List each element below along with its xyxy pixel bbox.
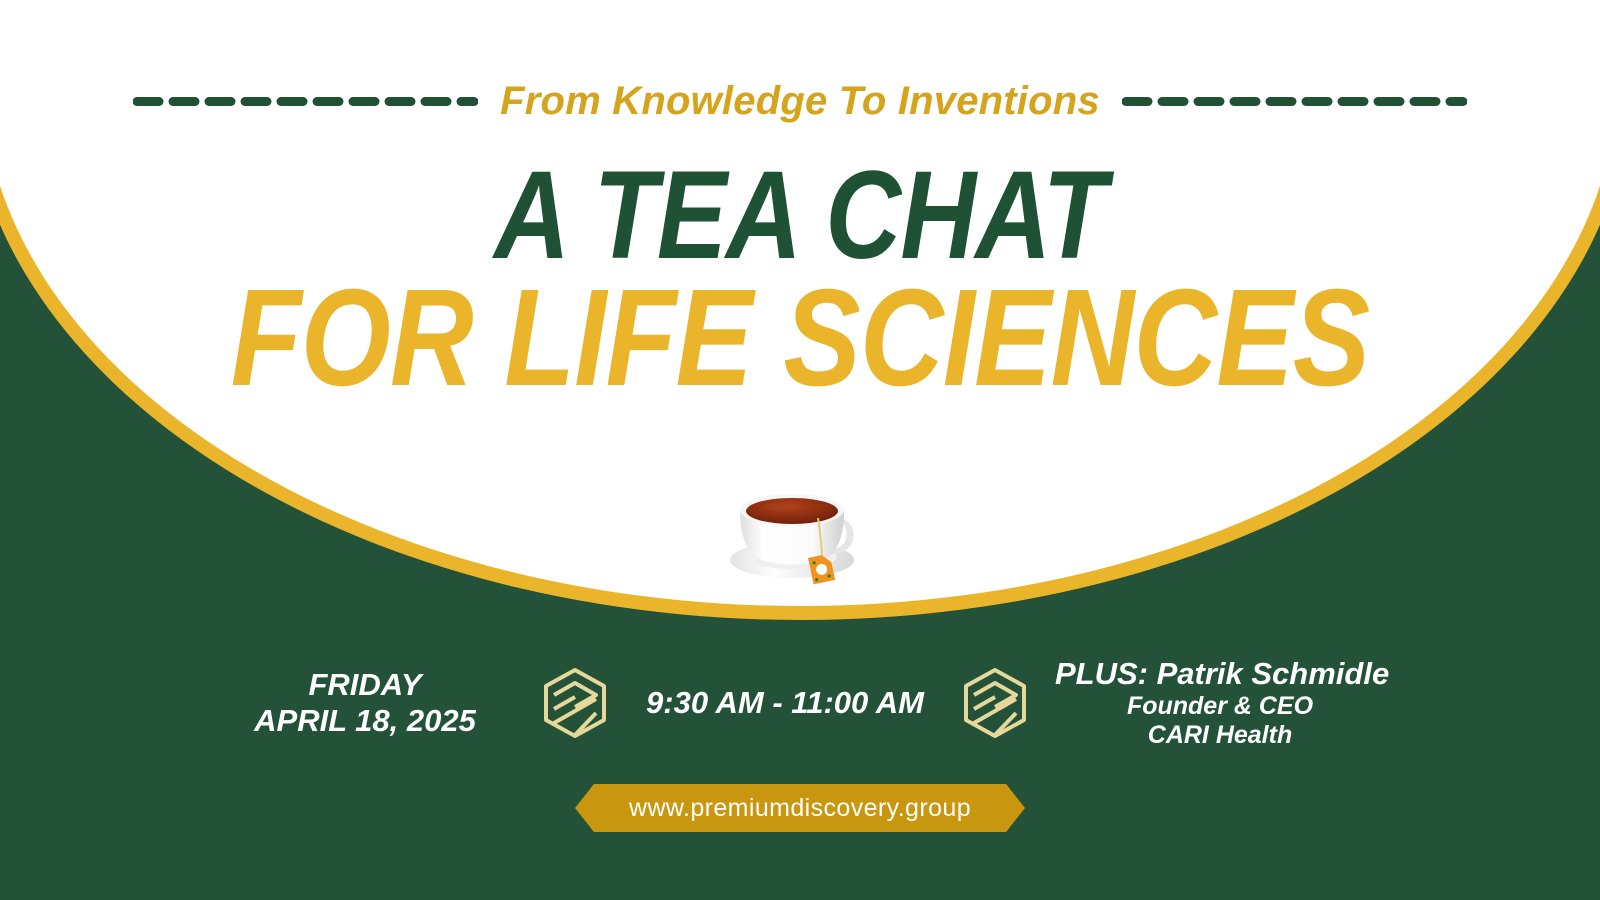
website-banner[interactable]: www.premiumdiscovery.group: [575, 784, 1025, 832]
hexagon-layers-icon: [962, 667, 1028, 739]
event-details-row: FRIDAY APRIL 18, 2025 9:30 AM - 11:00 AM: [0, 648, 1600, 758]
teacup-icon: [712, 472, 872, 597]
website-url[interactable]: www.premiumdiscovery.group: [575, 784, 1025, 832]
speaker-name: PLUS: Patrik Schmidle: [1055, 656, 1385, 692]
event-day: FRIDAY: [215, 667, 515, 703]
event-speaker: PLUS: Patrik Schmidle Founder & CEO CARI…: [1055, 656, 1385, 750]
page-title: A TEA CHAT FOR LIFE SCIENCES: [0, 158, 1600, 402]
tagline-row: From Knowledge To Inventions: [0, 72, 1600, 130]
ellipse-top-fill: [24, 0, 1576, 80]
speaker-role: Founder & CEO: [1055, 692, 1385, 721]
speaker-organization: CARI Health: [1055, 721, 1385, 750]
tagline-text: From Knowledge To Inventions: [500, 79, 1100, 124]
title-line-one: A TEA CHAT: [128, 158, 1472, 273]
event-full-date: APRIL 18, 2025: [215, 703, 515, 739]
event-time: 9:30 AM - 11:00 AM: [635, 685, 935, 721]
dashed-rule-left-icon: [133, 97, 478, 106]
separator-right: [935, 667, 1055, 739]
separator-left: [515, 667, 635, 739]
event-flyer: From Knowledge To Inventions A TEA CHAT …: [0, 0, 1600, 900]
dashed-rule-right-icon: [1122, 97, 1467, 106]
title-line-two: FOR LIFE SCIENCES: [128, 275, 1472, 402]
event-date: FRIDAY APRIL 18, 2025: [215, 667, 515, 739]
hexagon-layers-icon: [542, 667, 608, 739]
